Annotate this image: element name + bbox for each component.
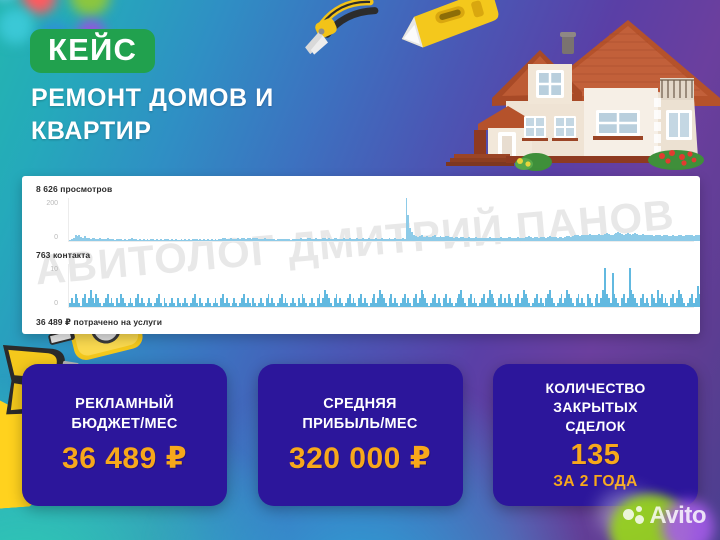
card-title-line-1: РЕКЛАМНЫЙ: [71, 394, 177, 414]
card-avg-profit: СРЕДНЯЯ ПРИБЫЛЬ/МЕС 320 000 ₽: [258, 364, 463, 506]
card-ad-budget: РЕКЛАМНЫЙ БЮДЖЕТ/МЕС 36 489 ₽: [22, 364, 227, 506]
promo-banner: КЕЙС РЕМОНТ ДОМОВ И КВАРТИР АВИТОЛОГ ДМИ…: [0, 0, 720, 540]
spent-label: 36 489 ₽ потрачено на услуги: [36, 317, 162, 328]
card-avg-profit-title: СРЕДНЯЯ ПРИБЫЛЬ/МЕС: [302, 394, 417, 434]
pliers-icon: [296, 0, 385, 69]
card-title-line-1: СРЕДНЯЯ: [302, 394, 417, 414]
views-axis-min: 0: [36, 234, 58, 241]
views-axis-max: 200: [36, 200, 58, 207]
page-title-line-2: КВАРТИР: [31, 115, 451, 148]
card-title-line-2: ПРИБЫЛЬ/МЕС: [302, 414, 417, 434]
page-title-line-1: РЕМОНТ ДОМОВ И: [31, 82, 451, 115]
contacts-axis-max: 10: [36, 266, 58, 273]
card-ad-budget-value: 36 489 ₽: [62, 444, 187, 474]
views-chart: [68, 198, 694, 242]
contacts-chart: [68, 264, 694, 308]
avito-mark-icon: [623, 506, 645, 526]
contacts-axis-min: 0: [36, 300, 58, 307]
card-title-line-2: ЗАКРЫТЫХ: [545, 398, 645, 417]
card-closed-deals-title: КОЛИЧЕСТВО ЗАКРЫТЫХ СДЕЛОК: [545, 379, 645, 437]
card-title-line-3: СДЕЛОК: [545, 417, 645, 436]
page-title: РЕМОНТ ДОМОВ И КВАРТИР: [31, 82, 451, 148]
card-title-line-1: КОЛИЧЕСТВО: [545, 379, 645, 398]
stats-panel: АВИТОЛОГ ДМИТРИЙ ПАНОВ 8 626 просмотров …: [22, 176, 700, 334]
result-cards: РЕКЛАМНЫЙ БЮДЖЕТ/МЕС 36 489 ₽ СРЕДНЯЯ ПР…: [22, 364, 698, 506]
case-badge: КЕЙС: [30, 29, 155, 73]
avito-wordmark: Avito: [649, 504, 706, 528]
card-closed-deals-subtitle: ЗА 2 ГОДА: [553, 474, 637, 490]
views-label: 8 626 просмотров: [36, 184, 112, 194]
contacts-label: 763 контакта: [36, 250, 90, 260]
card-title-line-2: БЮДЖЕТ/МЕС: [71, 414, 177, 434]
card-closed-deals-value: 135: [571, 441, 621, 470]
card-avg-profit-value: 320 000 ₽: [289, 444, 431, 474]
pliers-illustration: [296, 0, 385, 69]
card-ad-budget-title: РЕКЛАМНЫЙ БЮДЖЕТ/МЕС: [71, 394, 177, 434]
card-closed-deals: КОЛИЧЕСТВО ЗАКРЫТЫХ СДЕЛОК 135 ЗА 2 ГОДА: [493, 364, 698, 506]
avito-logo: Avito: [623, 504, 706, 528]
